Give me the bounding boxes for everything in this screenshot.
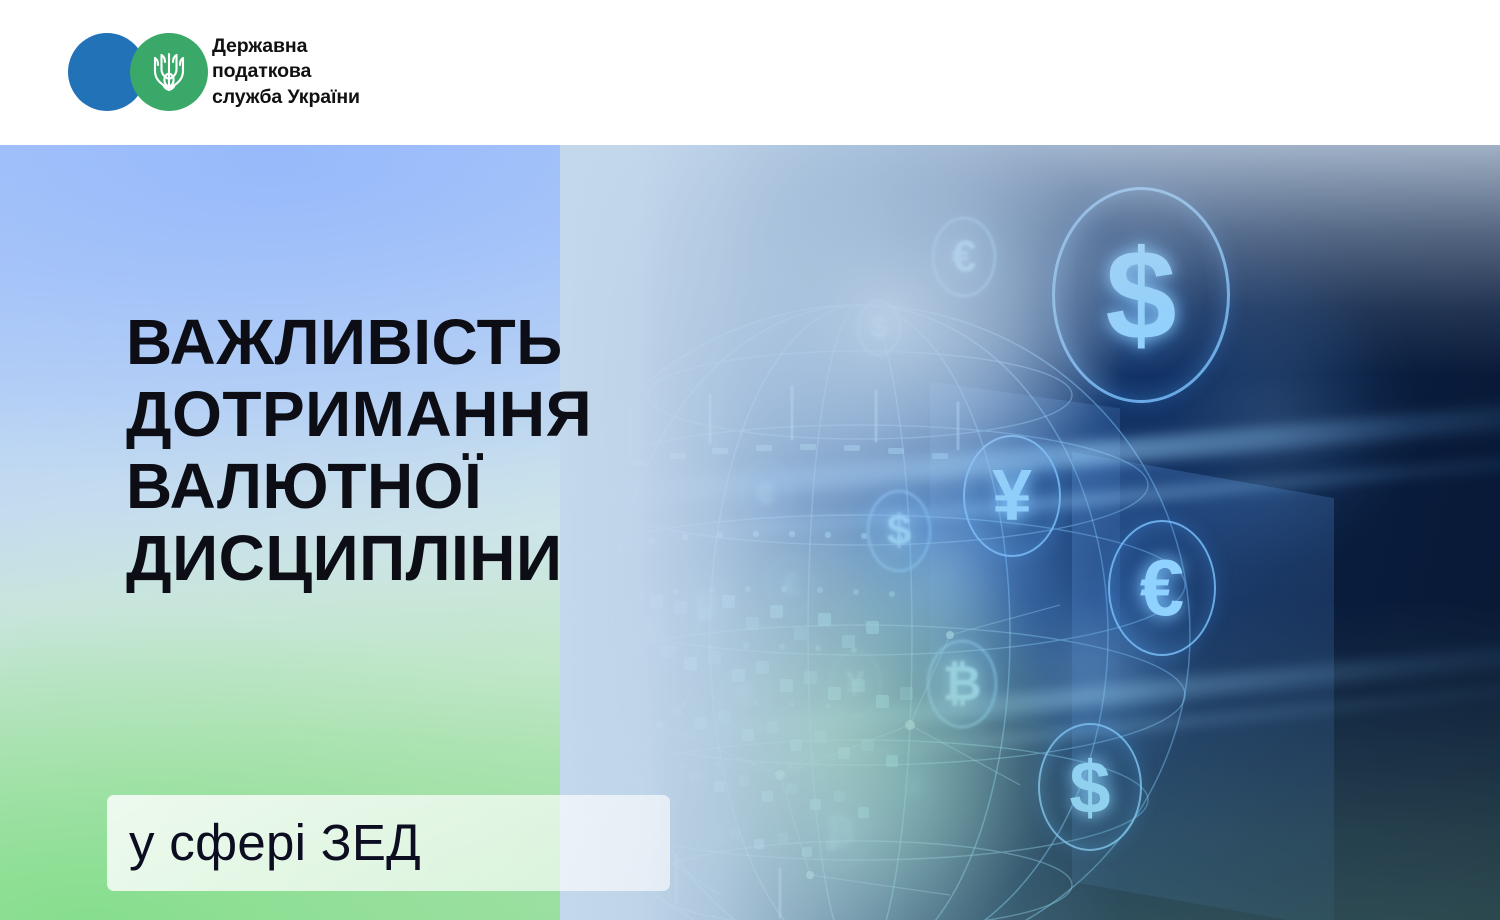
ukraine-trident-icon [130,33,208,111]
hero-stage: $ € $ ¥ € $ ¢ ₿ € ₿ ¥ $ $ ₿ $ ¢ £ ¥ [0,145,1500,920]
banner-root: Державна податкова служба України [0,0,1500,920]
subtitle-badge: у сфері ЗЕД [107,795,670,891]
page-header: Державна податкова служба України [0,0,1500,145]
logo-marks [68,33,200,111]
organization-name: Державна податкова служба України [212,34,360,111]
hero-content: ВАЖЛИВІСТЬ ДОТРИМАННЯ ВАЛЮТНОЇ ДИСЦИПЛІН… [0,145,1500,920]
subtitle-text: у сфері ЗЕД [107,814,421,872]
organization-logo: Державна податкова служба України [68,33,360,111]
page-title: ВАЖЛИВІСТЬ ДОТРИМАННЯ ВАЛЮТНОЇ ДИСЦИПЛІН… [126,306,592,594]
